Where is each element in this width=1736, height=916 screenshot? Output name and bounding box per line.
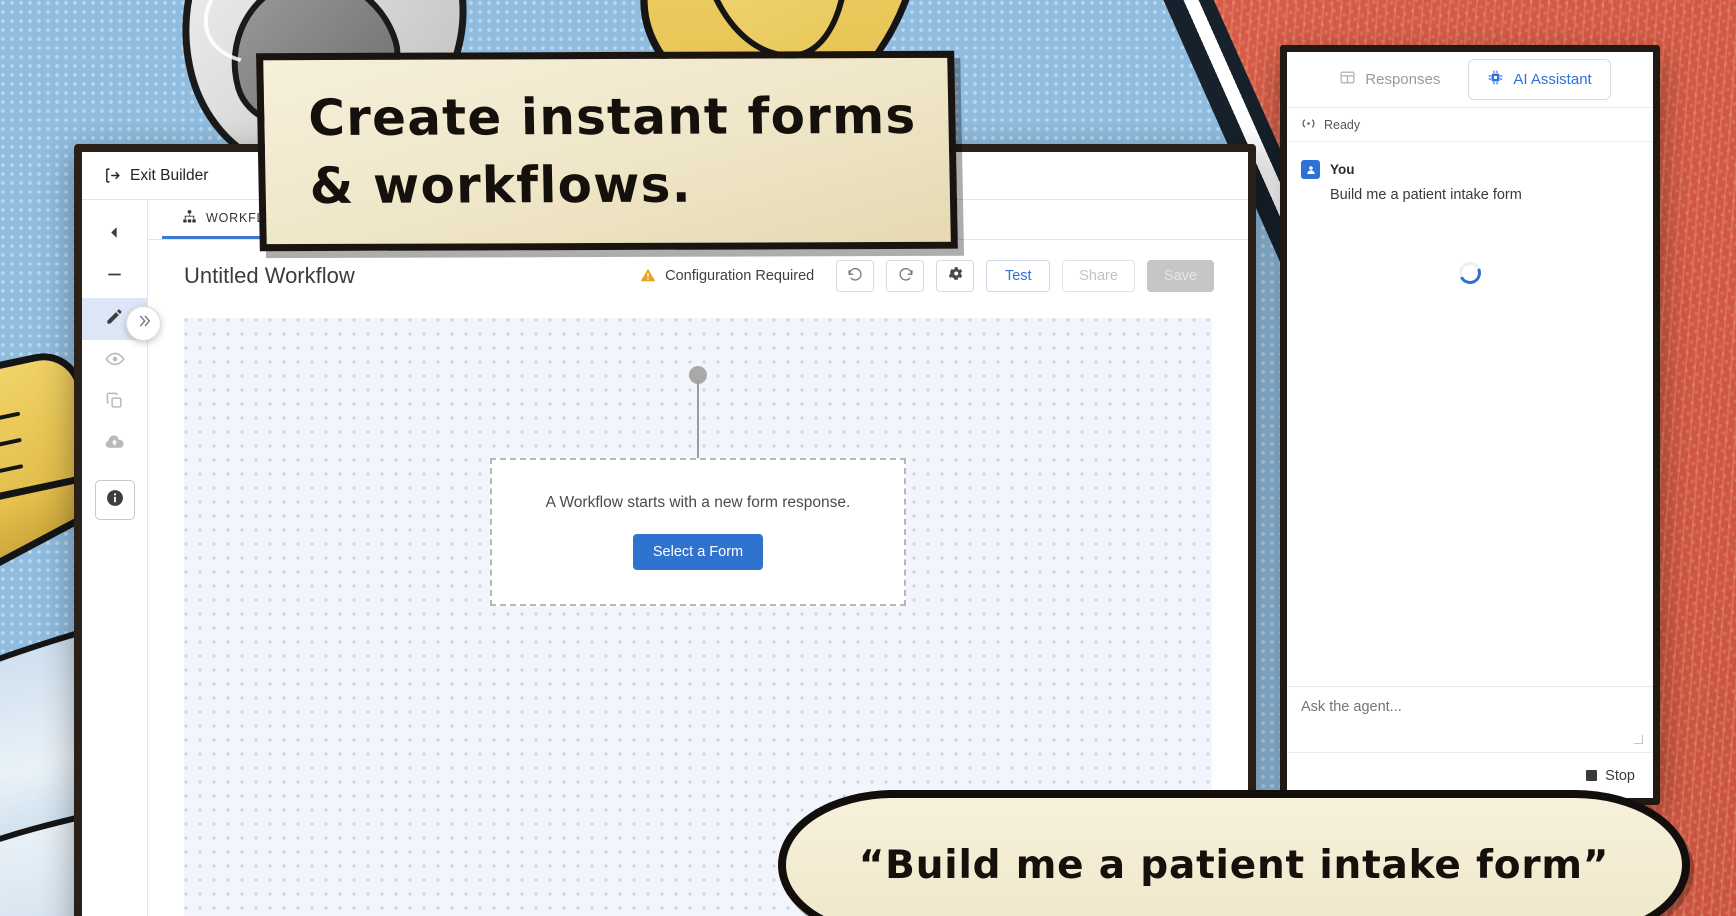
info-circle-icon bbox=[105, 488, 125, 513]
stop-button[interactable]: Stop bbox=[1586, 768, 1635, 784]
stop-button-label: Stop bbox=[1605, 768, 1635, 784]
tab-responses[interactable]: Responses bbox=[1329, 63, 1450, 96]
quote-text: “Build me a patient intake form” bbox=[859, 843, 1609, 888]
undo-icon bbox=[847, 265, 864, 287]
workflow-connector-line bbox=[697, 380, 699, 464]
pencil-icon bbox=[105, 307, 124, 331]
redo-icon bbox=[897, 265, 914, 287]
exit-arrow-icon bbox=[104, 167, 121, 184]
workflow-start-text: A Workflow starts with a new form respon… bbox=[546, 494, 851, 512]
sitemap-icon bbox=[182, 209, 197, 227]
sidebar-expand-button[interactable] bbox=[126, 306, 161, 341]
sidebar-minus-button[interactable] bbox=[82, 256, 148, 298]
screenshot-stage: Exit Builder bbox=[0, 0, 1736, 916]
loading-spinner-wrapper bbox=[1287, 262, 1653, 284]
status-badge: Configuration Required bbox=[640, 267, 814, 286]
tab-responses-label: Responses bbox=[1365, 71, 1440, 88]
message-header: You bbox=[1301, 160, 1639, 179]
quote-speech-bubble: “Build me a patient intake form” bbox=[778, 790, 1690, 916]
chip-icon bbox=[1487, 69, 1504, 90]
builder-left-rail bbox=[82, 200, 148, 916]
chevron-double-right-icon bbox=[136, 313, 152, 334]
stop-square-icon bbox=[1586, 770, 1597, 781]
gear-icon bbox=[947, 265, 964, 287]
headline-line-2: & workflows. bbox=[309, 152, 906, 218]
share-button[interactable]: Share bbox=[1062, 260, 1135, 292]
exit-builder-label: Exit Builder bbox=[130, 167, 208, 185]
ai-status-label: Ready bbox=[1324, 118, 1360, 132]
eye-icon bbox=[105, 349, 125, 374]
caret-left-icon bbox=[108, 226, 121, 244]
sidebar-item-publish[interactable] bbox=[82, 424, 148, 466]
minus-icon bbox=[105, 265, 124, 289]
ai-panel-tabs: Responses AI Assistant bbox=[1287, 52, 1653, 108]
test-button[interactable]: Test bbox=[986, 260, 1050, 292]
ask-the-agent-input[interactable] bbox=[1301, 699, 1639, 741]
headline-line-1: Create instant forms bbox=[308, 84, 905, 150]
loading-spinner-icon bbox=[1456, 259, 1484, 287]
select-a-form-button[interactable]: Select a Form bbox=[633, 534, 763, 570]
textarea-resize-handle[interactable] bbox=[1634, 735, 1643, 744]
ai-assistant-window: Responses AI Assistant bbox=[1280, 45, 1660, 805]
ai-status-row: Ready bbox=[1287, 108, 1653, 142]
ai-composer bbox=[1287, 686, 1653, 752]
headline-callout-box: Create instant forms & workflows. bbox=[256, 51, 958, 251]
settings-button[interactable] bbox=[936, 260, 974, 292]
sidebar-collapse-button[interactable] bbox=[82, 214, 148, 256]
user-badge-icon bbox=[1301, 160, 1320, 179]
message-author: You bbox=[1330, 162, 1355, 177]
table-icon bbox=[1339, 69, 1356, 90]
workflow-start-card: A Workflow starts with a new form respon… bbox=[490, 458, 906, 606]
tab-ai-assistant[interactable]: AI Assistant bbox=[1468, 59, 1610, 100]
cloud-upload-icon bbox=[104, 432, 125, 458]
warning-triangle-icon bbox=[640, 267, 656, 286]
broadcast-icon bbox=[1301, 117, 1316, 133]
undo-button[interactable] bbox=[836, 260, 874, 292]
message-text: Build me a patient intake form bbox=[1330, 187, 1639, 203]
redo-button[interactable] bbox=[886, 260, 924, 292]
sidebar-item-info[interactable] bbox=[95, 480, 135, 520]
workflow-action-bar: Configuration Required bbox=[640, 260, 1214, 292]
save-button: Save bbox=[1147, 260, 1214, 292]
sidebar-item-duplicate[interactable] bbox=[82, 382, 148, 424]
status-badge-label: Configuration Required bbox=[665, 268, 814, 284]
tab-ai-assistant-label: AI Assistant bbox=[1513, 71, 1591, 88]
copy-icon bbox=[105, 391, 124, 415]
page-title[interactable]: Untitled Workflow bbox=[184, 263, 355, 289]
exit-builder-button[interactable]: Exit Builder bbox=[104, 167, 208, 185]
list-item: You Build me a patient intake form bbox=[1301, 160, 1639, 203]
sidebar-item-preview[interactable] bbox=[82, 340, 148, 382]
ai-message-thread: You Build me a patient intake form bbox=[1287, 142, 1653, 686]
